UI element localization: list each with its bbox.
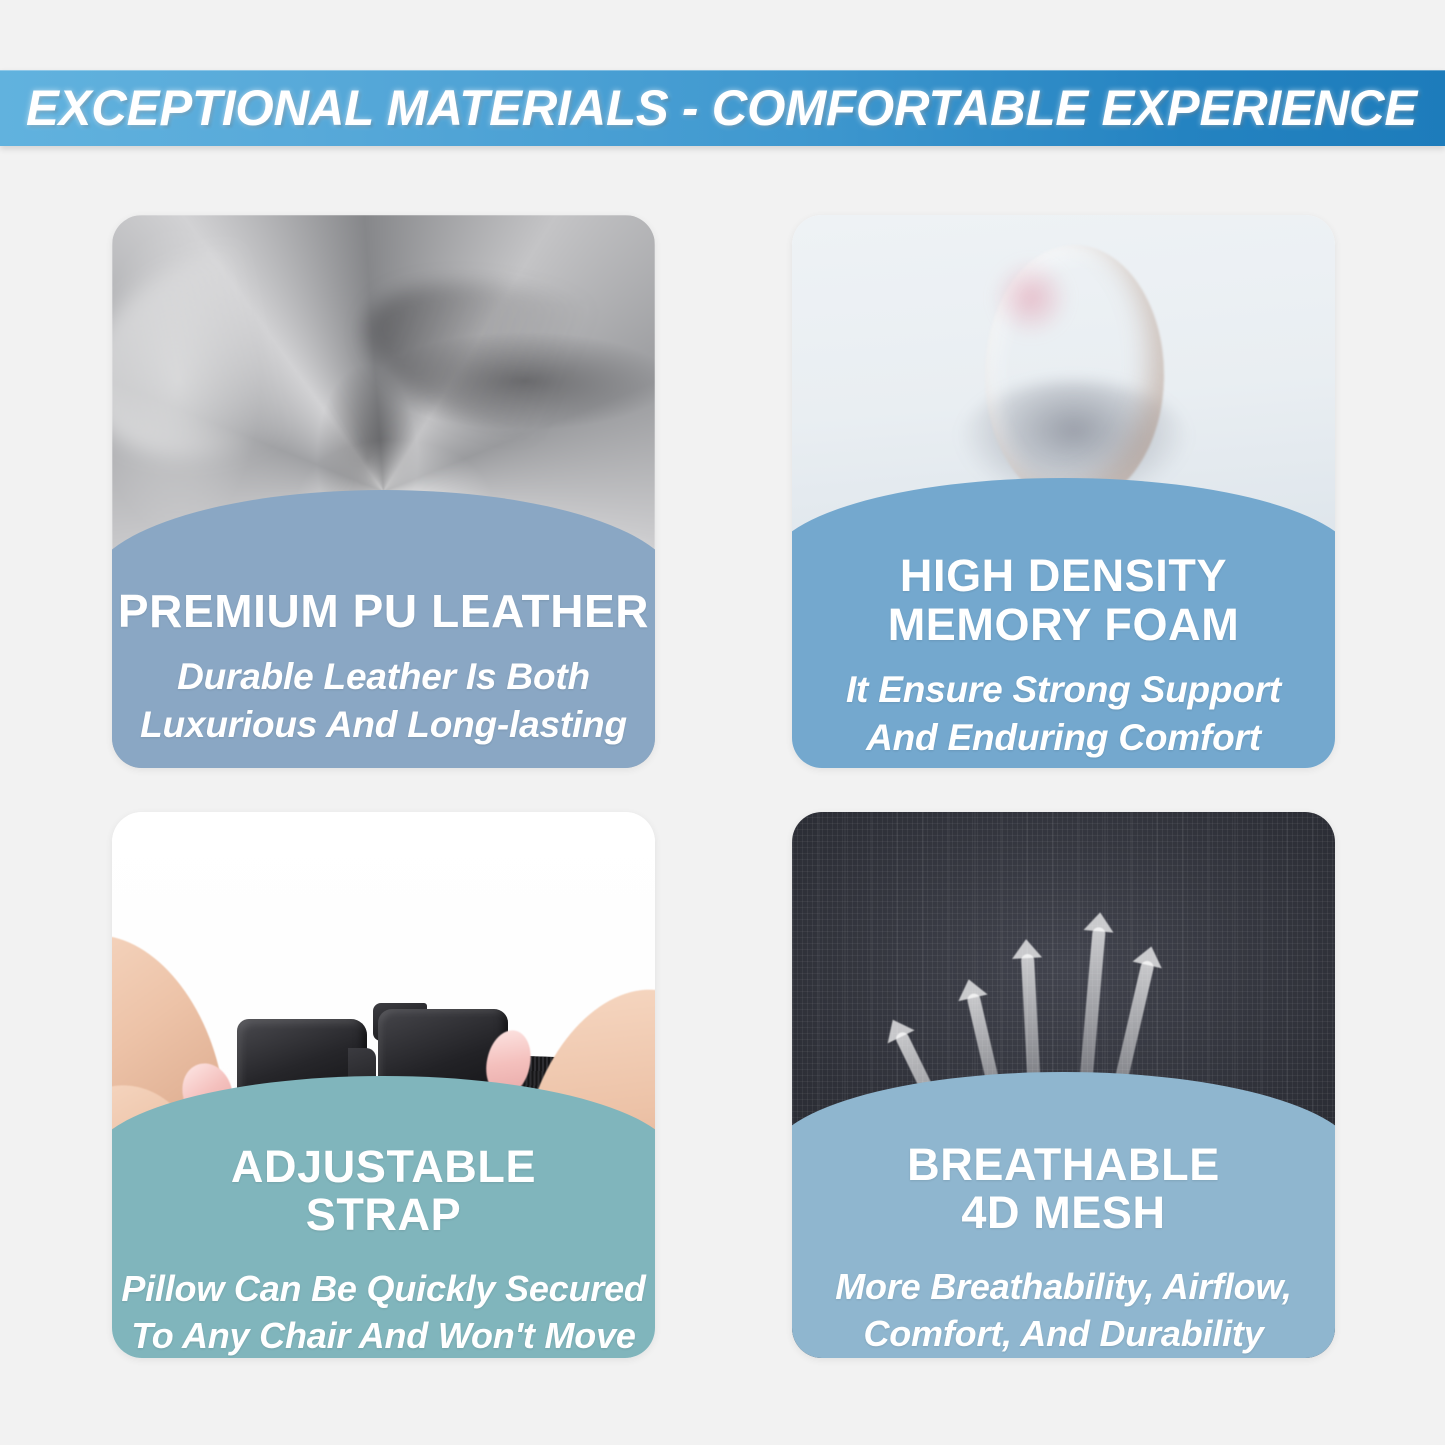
ball-highlight bbox=[993, 259, 1069, 336]
card-title: ADJUSTABLE STRAP bbox=[112, 1143, 655, 1240]
feature-card-premium-pu-leather[interactable]: PREMIUM PU LEATHER Durable Leather Is Bo… bbox=[112, 215, 655, 768]
card-subtitle: More Breathability, Airflow, Comfort, An… bbox=[792, 1264, 1335, 1358]
card-caption-panel: ADJUSTABLE STRAP Pillow Can Be Quickly S… bbox=[112, 1076, 655, 1358]
header-banner: EXCEPTIONAL MATERIALS - COMFORTABLE EXPE… bbox=[0, 70, 1445, 146]
feature-card-breathable-4d-mesh[interactable]: BREATHABLE 4D MESH More Breathability, A… bbox=[792, 812, 1335, 1358]
card-subtitle: Durable Leather Is Both Luxurious And Lo… bbox=[112, 653, 655, 749]
card-title: HIGH DENSITY MEMORY FOAM bbox=[792, 552, 1335, 649]
card-subtitle: It Ensure Strong Support And Enduring Co… bbox=[792, 666, 1335, 762]
card-title: BREATHABLE 4D MESH bbox=[792, 1141, 1335, 1238]
feature-card-high-density-memory-foam[interactable]: HIGH DENSITY MEMORY FOAM It Ensure Stron… bbox=[792, 215, 1335, 768]
card-subtitle: Pillow Can Be Quickly Secured To Any Cha… bbox=[112, 1266, 655, 1358]
card-caption-panel: HIGH DENSITY MEMORY FOAM It Ensure Stron… bbox=[792, 478, 1335, 768]
card-caption-panel: BREATHABLE 4D MESH More Breathability, A… bbox=[792, 1072, 1335, 1358]
card-caption-panel: PREMIUM PU LEATHER Durable Leather Is Bo… bbox=[112, 490, 655, 768]
feature-card-adjustable-strap[interactable]: ADJUSTABLE STRAP Pillow Can Be Quickly S… bbox=[112, 812, 655, 1358]
card-title: PREMIUM PU LEATHER bbox=[112, 587, 655, 637]
banner-title: EXCEPTIONAL MATERIALS - COMFORTABLE EXPE… bbox=[26, 83, 1417, 133]
feature-card-grid: PREMIUM PU LEATHER Durable Leather Is Bo… bbox=[112, 215, 1335, 1358]
